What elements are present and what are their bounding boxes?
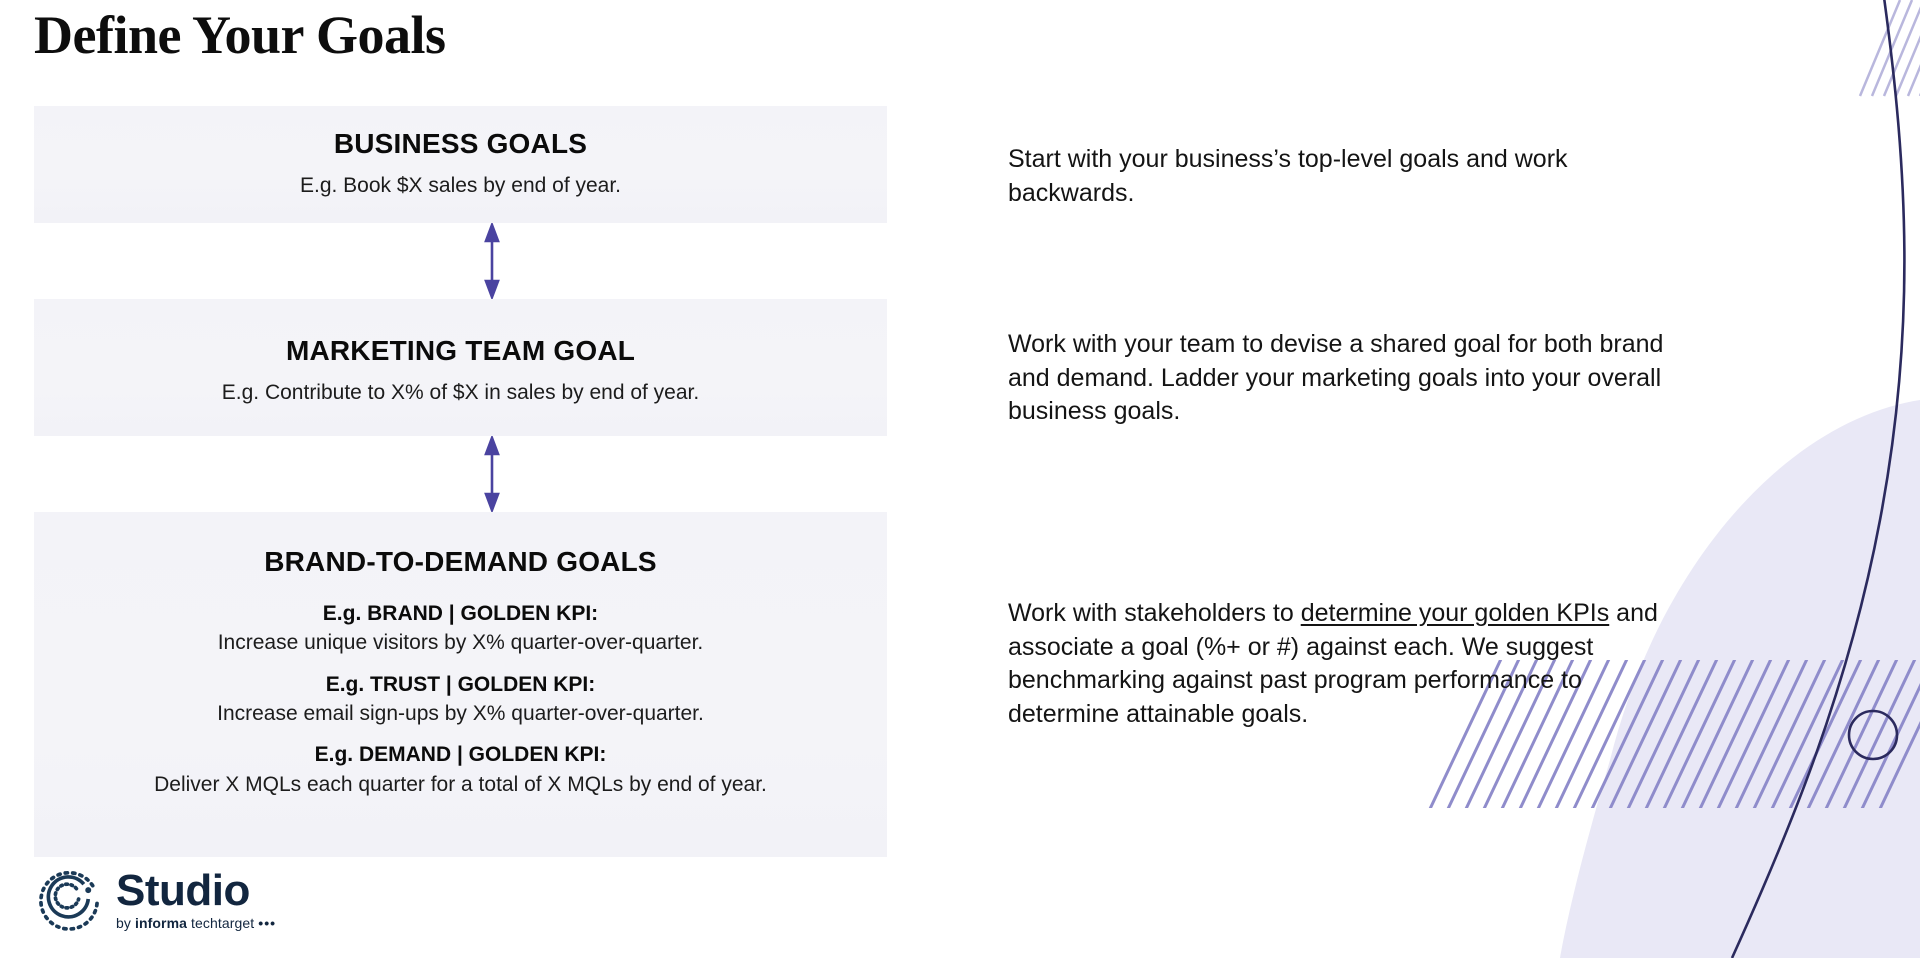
- kpi-group-trust: E.g. TRUST | GOLDEN KPI: Increase email …: [44, 671, 877, 728]
- sweeping-curve-line: [1732, 0, 1904, 958]
- studio-logo: Studio by informa techtarget •••: [32, 862, 276, 936]
- tagline-prefix: by: [116, 915, 135, 931]
- double-headed-vertical-arrow-icon: [486, 225, 498, 297]
- double-headed-vertical-arrow-icon: [486, 438, 498, 510]
- goal-stack: BUSINESS GOALS E.g. Book $X sales by end…: [34, 106, 887, 857]
- kpi-description: Deliver X MQLs each quarter for a total …: [44, 771, 877, 798]
- note-lead-text: Work with stakeholders to: [1008, 599, 1301, 627]
- page-title: Define Your Goals: [34, 4, 446, 66]
- golden-kpis-link[interactable]: determine your golden KPIs: [1301, 599, 1610, 627]
- goal-box-subtitle: E.g. Book $X sales by end of year.: [44, 172, 877, 199]
- kpi-group-demand: E.g. DEMAND | GOLDEN KPI: Deliver X MQLs…: [44, 741, 877, 798]
- note-business: Start with your business’s top-level goa…: [1008, 143, 1688, 210]
- goal-box-title: MARKETING TEAM GOAL: [44, 335, 877, 367]
- hatch-lines-top: [1860, 0, 1920, 96]
- goal-box-title: BUSINESS GOALS: [44, 128, 877, 160]
- kpi-group-brand: E.g. BRAND | GOLDEN KPI: Increase unique…: [44, 600, 877, 657]
- studio-logo-wordmark: Studio: [116, 869, 276, 913]
- goal-box-business: BUSINESS GOALS E.g. Book $X sales by end…: [34, 106, 887, 223]
- note-marketing: Work with your team to devise a shared g…: [1008, 328, 1688, 429]
- studio-logo-tagline: by informa techtarget •••: [116, 916, 276, 930]
- tagline-brand: informa: [135, 915, 187, 931]
- kpi-description: Increase unique visitors by X% quarter-o…: [44, 629, 877, 656]
- curve-circle-marker: [1849, 711, 1897, 759]
- kpi-heading: E.g. TRUST | GOLDEN KPI:: [44, 671, 877, 698]
- studio-swirl-logo-icon: [32, 862, 106, 936]
- kpi-heading: E.g. DEMAND | GOLDEN KPI:: [44, 741, 877, 768]
- kpi-description: Increase email sign-ups by X% quarter-ov…: [44, 700, 877, 727]
- connector-business-marketing: [34, 223, 887, 299]
- tagline-rest: techtarget: [187, 915, 254, 931]
- tagline-dots: •••: [258, 915, 276, 931]
- goal-box-brand-to-demand: BRAND-TO-DEMAND GOALS E.g. BRAND | GOLDE…: [34, 512, 887, 857]
- note-brand-to-demand: Work with stakeholders to determine your…: [1008, 597, 1688, 731]
- kpi-heading: E.g. BRAND | GOLDEN KPI:: [44, 600, 877, 627]
- studio-logo-text: Studio by informa techtarget •••: [116, 869, 276, 930]
- goal-box-marketing: MARKETING TEAM GOAL E.g. Contribute to X…: [34, 299, 887, 436]
- goal-box-title: BRAND-TO-DEMAND GOALS: [44, 546, 877, 578]
- slide-canvas: Define Your Goals BUSINESS GOALS E.g. Bo…: [0, 0, 1920, 958]
- goal-box-subtitle: E.g. Contribute to X% of $X in sales by …: [44, 379, 877, 406]
- connector-marketing-brand: [34, 436, 887, 512]
